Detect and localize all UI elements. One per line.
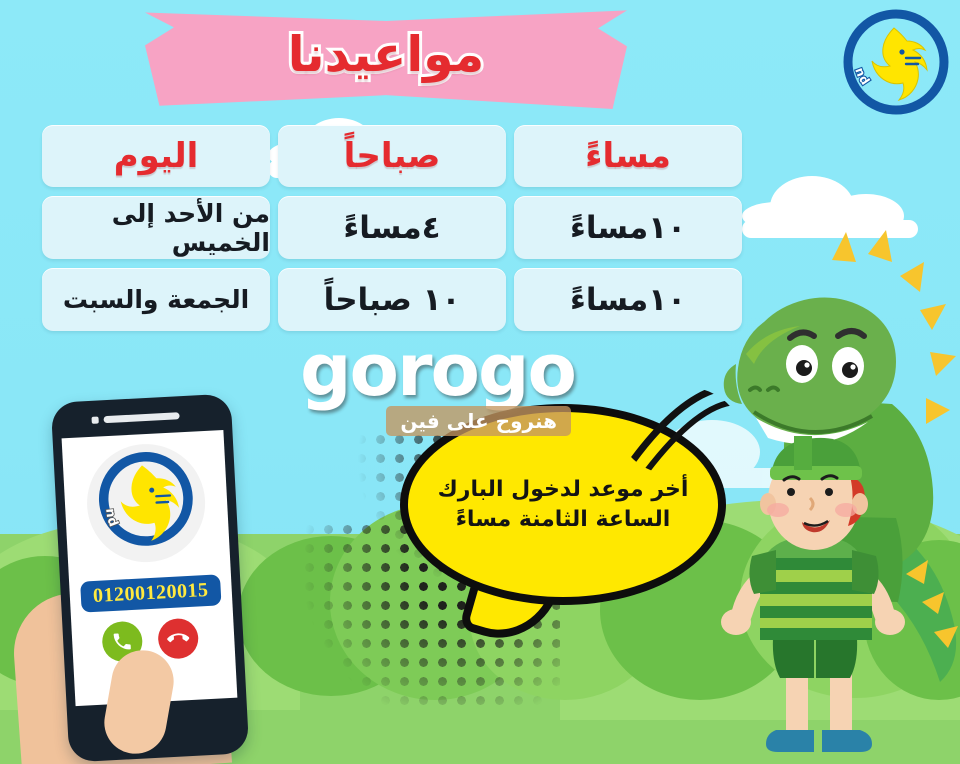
brand-logo: Dragon Island bbox=[840, 8, 952, 120]
watermark: gorogo هنروح على فين bbox=[300, 336, 575, 436]
poster-canvas: مواعيدنا Dragon Island مساءً صباحاً اليو… bbox=[0, 0, 960, 764]
dragon-head-icon-phone: Dragon Island bbox=[84, 441, 208, 565]
header-cell-evening: مساءً bbox=[514, 125, 742, 187]
dragon-head-icon: Dragon Island bbox=[840, 8, 952, 120]
header-evening-label: مساءً bbox=[585, 136, 671, 176]
header-day-label: اليوم bbox=[114, 136, 199, 176]
value-evening-weekend: ١٠مساءً bbox=[570, 282, 686, 318]
cell-morning-weekend: ١٠ صباحاً bbox=[278, 268, 506, 331]
phone-decline-icon[interactable] bbox=[157, 618, 199, 660]
cell-day-weekday: من الأحد إلى الخميس bbox=[42, 196, 270, 259]
phone-brand-logo: Dragon Island bbox=[84, 441, 208, 565]
cell-morning-weekday: ٤مساءً bbox=[278, 196, 506, 259]
phone-camera-icon bbox=[91, 416, 98, 423]
header-cell-morning: صباحاً bbox=[278, 125, 506, 187]
header-cell-day: اليوم bbox=[42, 125, 270, 187]
schedule-table: مساءً صباحاً اليوم ١٠مساءً ٤مساءً من الأ… bbox=[42, 125, 742, 340]
value-day-weekend: الجمعة والسبت bbox=[63, 285, 249, 314]
motion-lines-icon bbox=[620, 386, 740, 476]
cell-day-weekend: الجمعة والسبت bbox=[42, 268, 270, 331]
boy-illustration bbox=[690, 430, 940, 764]
value-morning-weekday: ٤مساءً bbox=[343, 210, 440, 246]
value-evening-weekday: ١٠مساءً bbox=[570, 210, 686, 246]
header-morning-label: صباحاً bbox=[344, 136, 441, 176]
cell-evening-weekday: ١٠مساءً bbox=[514, 196, 742, 259]
ribbon-banner: مواعيدنا bbox=[145, 4, 627, 110]
value-day-weekday: من الأحد إلى الخميس bbox=[42, 199, 270, 257]
watermark-text: gorogo bbox=[300, 336, 575, 404]
schedule-row-weekend: ١٠مساءً ١٠ صباحاً الجمعة والسبت bbox=[42, 268, 742, 331]
value-morning-weekend: ١٠ صباحاً bbox=[324, 282, 461, 318]
phone-number[interactable]: 01200120015 bbox=[80, 574, 221, 612]
schedule-header-row: مساءً صباحاً اليوم bbox=[42, 125, 742, 187]
cell-evening-weekend: ١٠مساءً bbox=[514, 268, 742, 331]
phone-speaker-icon bbox=[103, 412, 179, 423]
boy-character bbox=[690, 430, 940, 764]
page-title: مواعيدنا bbox=[145, 26, 627, 83]
schedule-row-weekday: ١٠مساءً ٤مساءً من الأحد إلى الخميس bbox=[42, 196, 742, 259]
bubble-line-2: الساعة الثامنة مساءً bbox=[456, 505, 671, 535]
watermark-tagline: هنروح على فين bbox=[386, 406, 571, 436]
bubble-line-1: أخر موعد لدخول البارك bbox=[438, 475, 689, 505]
